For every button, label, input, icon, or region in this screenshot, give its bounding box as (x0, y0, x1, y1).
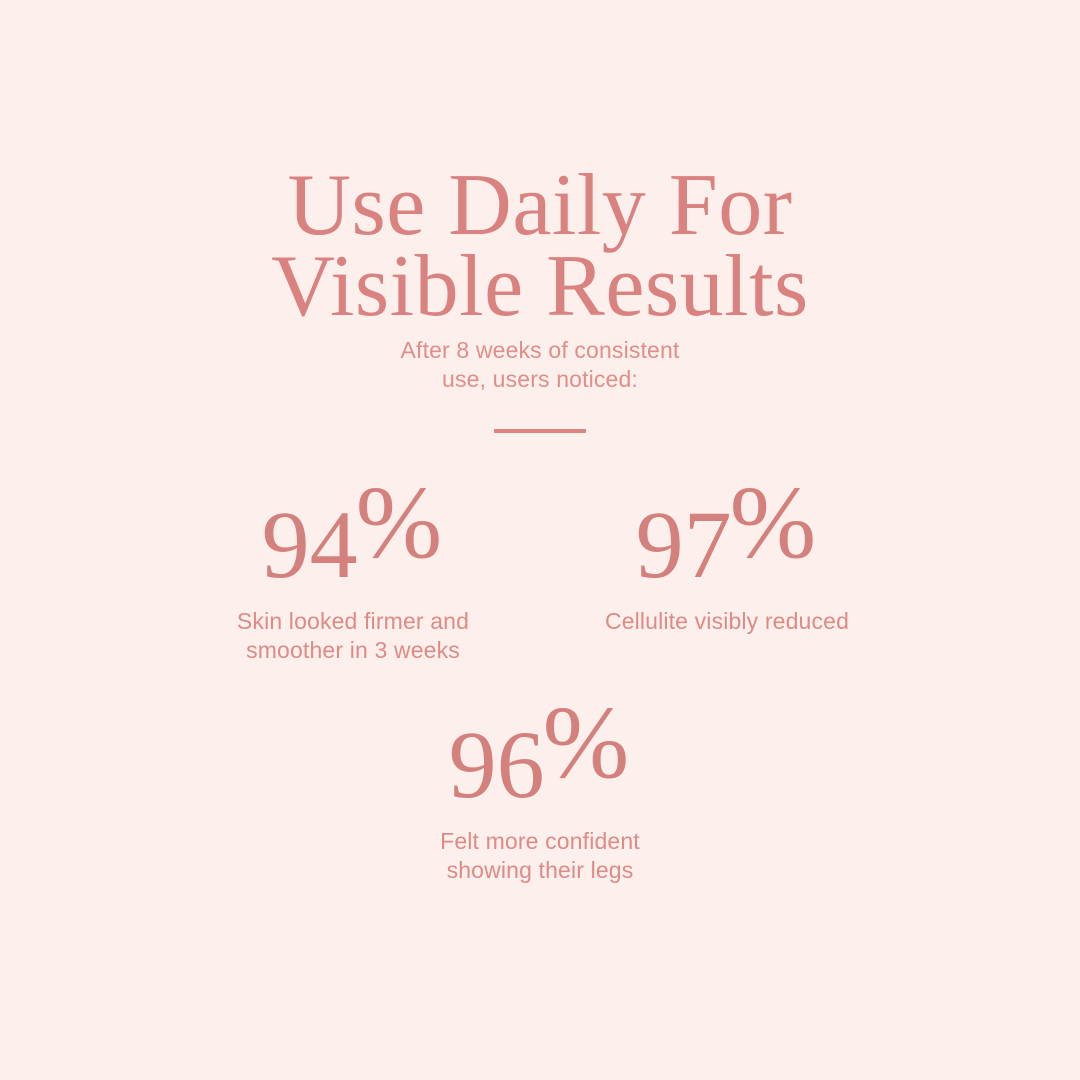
stat-caption-1-line-2: smoother in 3 weeks (237, 636, 469, 665)
stat-block-1: 94% Skin looked firmer and smoother in 3… (166, 497, 540, 665)
stat-value-1: 94% (262, 497, 445, 593)
stat-caption-3-line-2: showing their legs (440, 856, 640, 885)
stat-caption-1-line-1: Skin looked firmer and (237, 607, 469, 636)
divider-rule (494, 429, 586, 433)
stat-caption-2-line-1: Cellulite visibly reduced (605, 607, 849, 636)
results-infographic-poster: Use Daily For Visible Results After 8 we… (0, 0, 1080, 1080)
stat-caption-1: Skin looked firmer and smoother in 3 wee… (237, 607, 469, 665)
stat-caption-3: Felt more confident showing their legs (440, 827, 640, 885)
page-title: Use Daily For Visible Results (0, 165, 1080, 327)
page-title-line-2: Visible Results (0, 246, 1080, 327)
percent-sign-1: % (356, 475, 443, 571)
stat-caption-2: Cellulite visibly reduced (605, 607, 849, 636)
stat-row-top: 94% Skin looked firmer and smoother in 3… (0, 497, 1080, 665)
stat-number-2: 97 (636, 497, 732, 593)
stat-value-2: 97% (636, 497, 819, 593)
stat-caption-3-line-1: Felt more confident (440, 827, 640, 856)
percent-sign-2: % (730, 475, 817, 571)
percent-sign-3: % (543, 695, 630, 791)
divider-container (0, 429, 1080, 433)
subtitle-line-1: After 8 weeks of consistent (0, 336, 1080, 365)
stat-block-3: 96% Felt more confident showing their le… (0, 717, 1080, 885)
stat-value-3: 96% (449, 717, 632, 813)
page-title-line-1: Use Daily For (0, 165, 1080, 246)
subtitle: After 8 weeks of consistent use, users n… (0, 336, 1080, 394)
stat-number-1: 94 (262, 497, 358, 593)
subtitle-line-2: use, users noticed: (0, 365, 1080, 394)
stat-block-2: 97% Cellulite visibly reduced (540, 497, 914, 636)
stat-number-3: 96 (449, 717, 545, 813)
